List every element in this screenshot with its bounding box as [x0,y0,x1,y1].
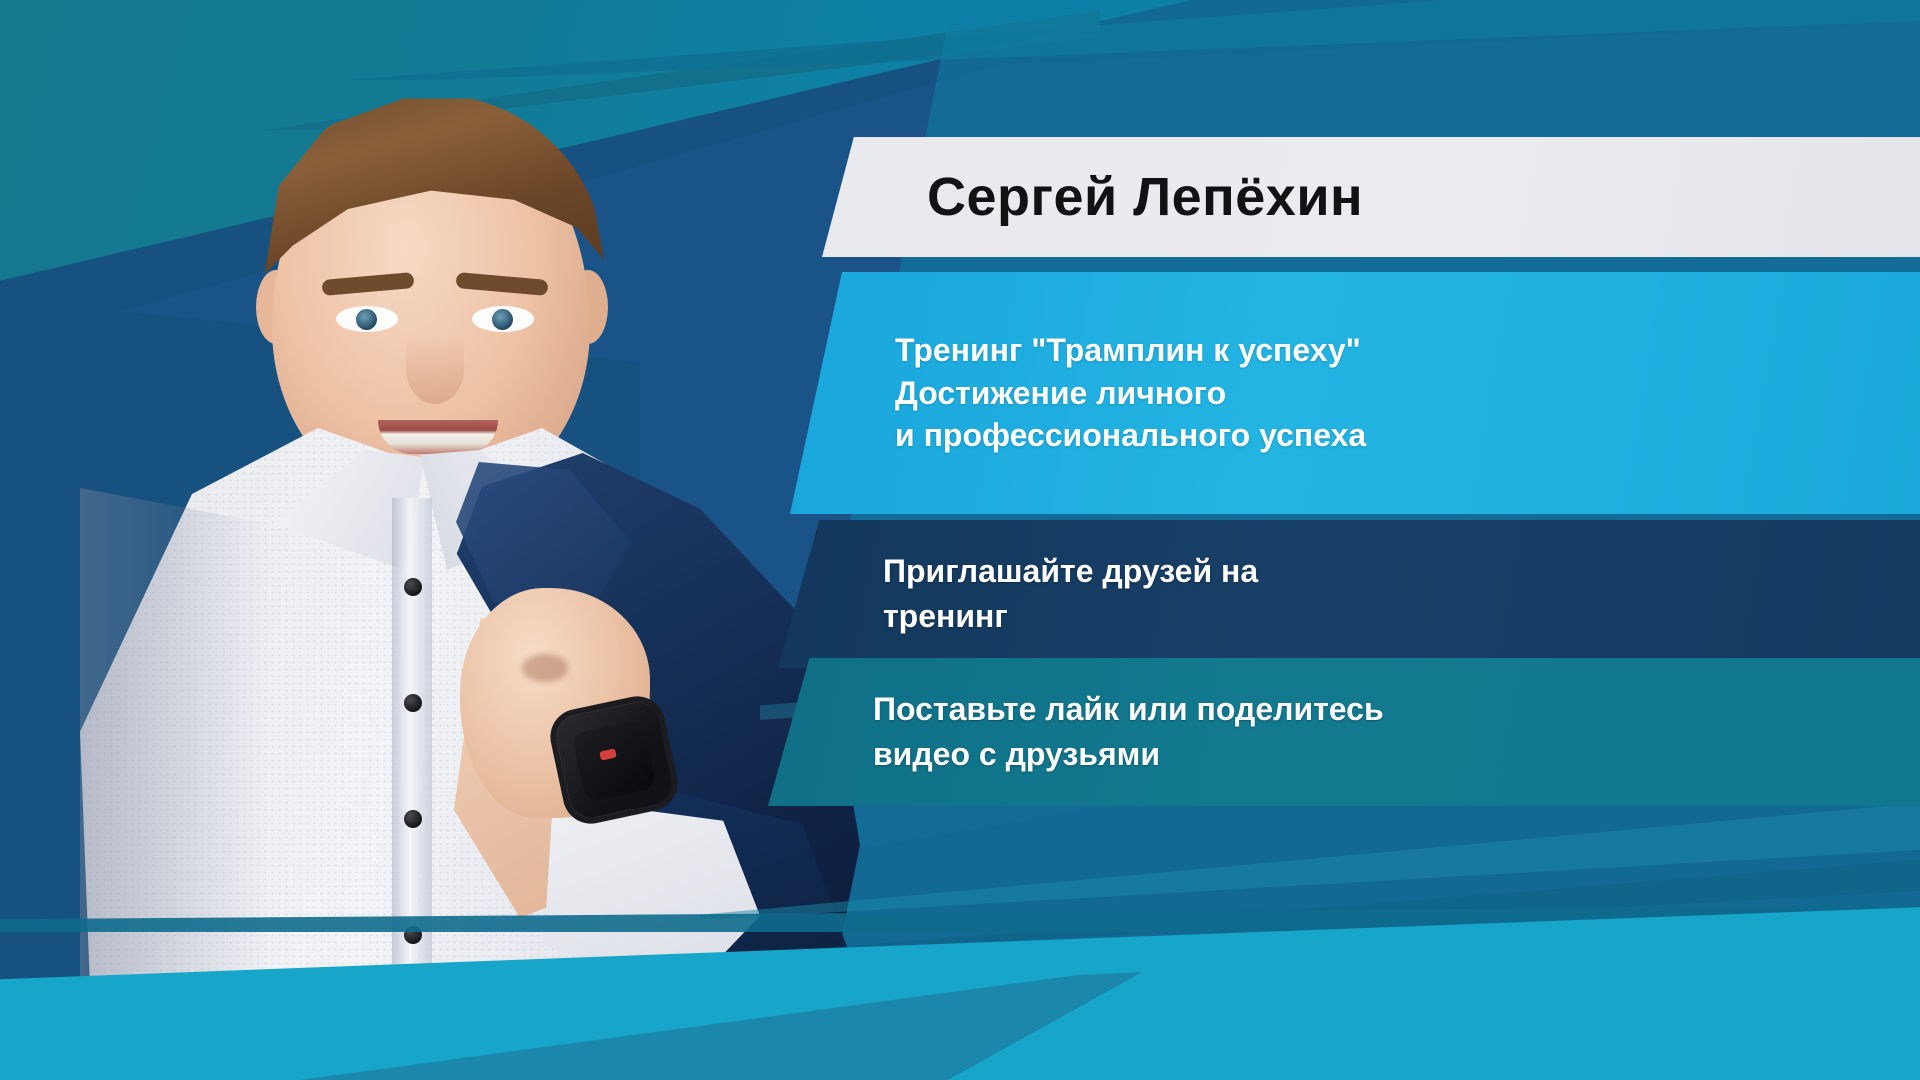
invite-friends-block: Приглашайте друзей на тренинг [778,520,1920,668]
shirt-button [404,810,422,828]
nose [406,334,464,404]
training-line-3: и профессионального успеха [895,414,1880,457]
training-line-1: Тренинг "Трамплин к успеху" [895,329,1880,372]
like-line-2: видео с друзьями [873,732,1880,777]
iris-left [356,309,377,330]
like-line-1: Поставьте лайк или поделитесь [873,687,1880,732]
watch-face [572,719,657,802]
invite-friends-block-inner: Приглашайте друзей на тренинг [778,549,1920,639]
training-line-2: Достижение личного [895,372,1880,415]
iris-right [492,309,513,330]
promo-slide: Сергей Лепёхин Тренинг "Трамплин к успех… [0,0,1920,1080]
speaker-name-banner: Сергей Лепёхин [822,137,1920,257]
like-share-block-inner: Поставьте лайк или поделитесь видео с др… [768,687,1920,777]
invite-line-1: Приглашайте друзей на [883,549,1880,594]
training-info-block: Тренинг "Трамплин к успеху" Достижение л… [790,272,1920,514]
eye-left [336,306,398,332]
speaker-name-banner-inner: Сергей Лепёхин [822,166,1920,228]
shirt-button [404,694,422,712]
like-share-block: Поставьте лайк или поделитесь видео с др… [768,658,1920,806]
knuckle-shadow [522,654,568,682]
shirt-button [404,578,422,596]
training-info-block-inner: Тренинг "Трамплин к успеху" Достижение л… [790,329,1920,458]
invite-line-2: тренинг [883,594,1880,639]
page-title: Сергей Лепёхин [927,166,1880,228]
eye-right [472,306,534,332]
mouth-smile [378,420,498,454]
